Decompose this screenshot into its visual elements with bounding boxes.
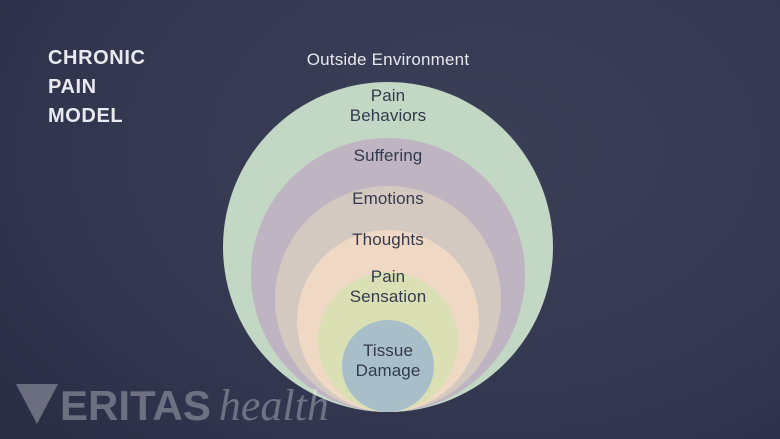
ring-label-5: Tissue Damage	[0, 341, 778, 381]
ring-label-4: Pain Sensation	[0, 267, 778, 307]
nested-circles-diagram: Pain BehaviorsSufferingEmotionsThoughtsP…	[0, 0, 780, 439]
ring-label-2: Emotions	[0, 189, 778, 209]
ring-label-1: Suffering	[0, 146, 778, 166]
ring-label-0: Pain Behaviors	[0, 86, 778, 126]
ring-label-3: Thoughts	[0, 230, 778, 250]
chronic-pain-model-graphic: Chronic Pain Model Outside Environment P…	[0, 0, 780, 439]
